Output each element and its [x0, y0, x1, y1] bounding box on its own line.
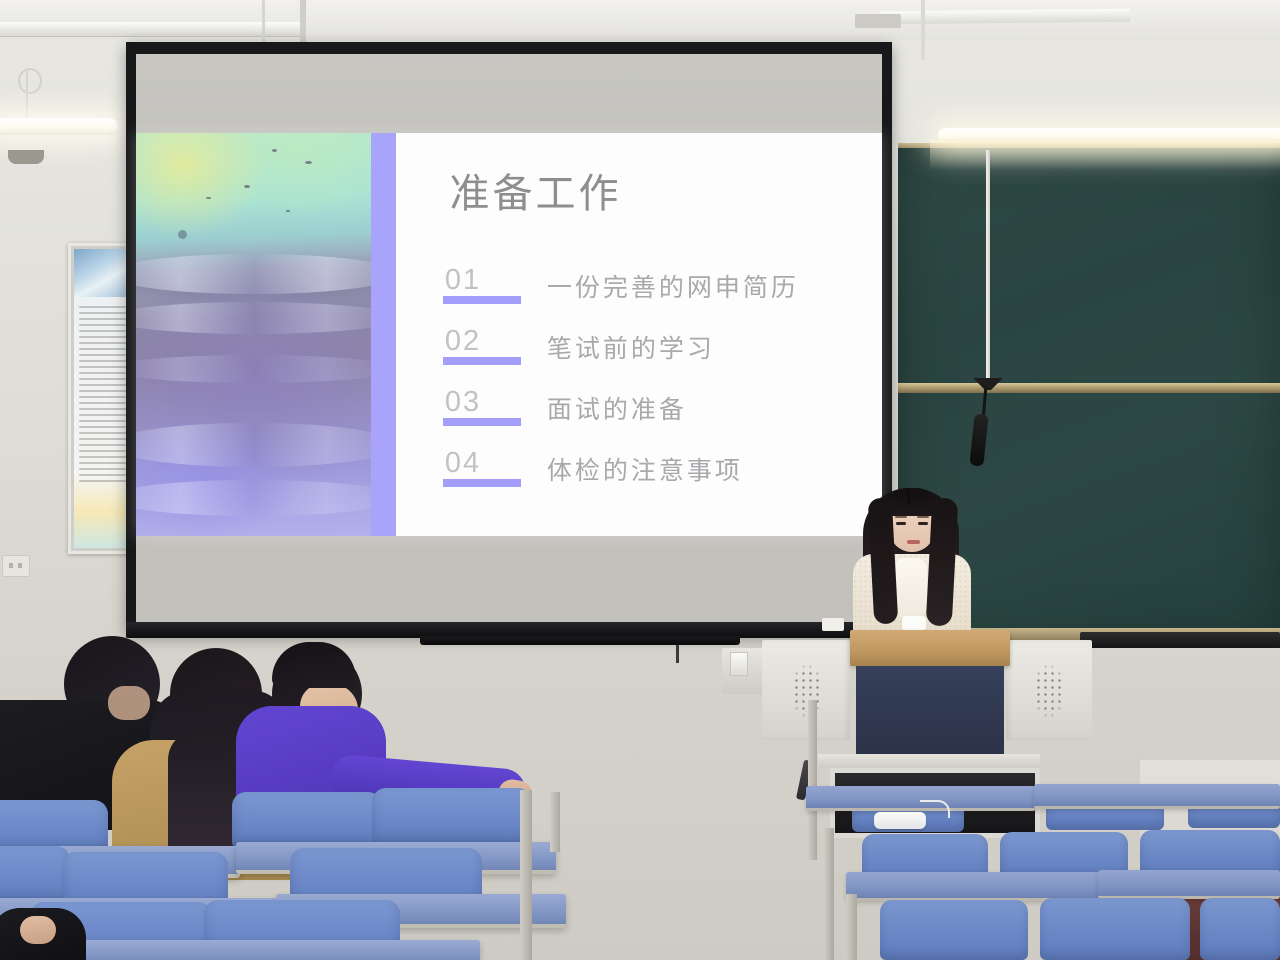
desk[interactable] — [1034, 784, 1280, 809]
student-front-row-hand — [20, 916, 56, 944]
lamp-bracket-left — [8, 150, 44, 164]
speaker-grille-icon — [786, 656, 828, 726]
power-bank-on-desk[interactable] — [874, 812, 926, 829]
chalkboard-rail — [898, 383, 1280, 393]
slide-accent-bar — [371, 133, 396, 536]
desk[interactable] — [846, 872, 1102, 901]
agenda-item: 01 一份完善的网申简历 — [445, 266, 873, 326]
agenda-item-underline — [443, 479, 521, 487]
presenter-mouth — [907, 540, 920, 544]
seat[interactable] — [372, 788, 532, 846]
desk-leg — [824, 828, 834, 960]
agenda-item-label: 笔试前的学习 — [547, 329, 715, 365]
seat[interactable] — [1200, 898, 1280, 960]
presenter-eye-left — [896, 522, 906, 525]
speaker-grille-icon — [1028, 656, 1070, 726]
projector-box — [855, 14, 901, 28]
agenda-item: 02 笔试前的学习 — [445, 327, 873, 387]
podium-speaker-right — [1006, 640, 1092, 740]
desk-leg — [550, 792, 560, 852]
slide-title: 准备工作 — [450, 161, 622, 219]
agenda-item-underline — [443, 296, 521, 304]
presenter-inner-top — [893, 558, 927, 618]
phone-on-podium[interactable] — [902, 616, 926, 630]
wall-box-slot — [730, 652, 748, 676]
presentation-slide: 准备工作 01 一份完善的网申简历 02 笔试前的学习 03 面试的准备 — [136, 133, 882, 536]
agenda-item-number: 04 — [445, 449, 517, 478]
ceiling-rail-left — [0, 22, 300, 37]
podium-base — [818, 754, 1040, 768]
projector-mount — [300, 0, 306, 46]
seat[interactable] — [0, 846, 70, 904]
seat[interactable] — [1040, 898, 1190, 960]
light-glow-right — [930, 140, 1280, 170]
poster-header-image — [74, 249, 134, 297]
agenda-item: 04 体检的注意事项 — [445, 449, 873, 509]
podium-speaker-left — [762, 640, 850, 740]
agenda-item-label: 一份完善的网申简历 — [547, 268, 799, 304]
agenda-item-number: 01 — [445, 266, 517, 295]
classroom-scene: 准备工作 01 一份完善的网申简历 02 笔试前的学习 03 面试的准备 — [0, 0, 1280, 960]
lamp-hook-icon — [18, 68, 42, 94]
chalkboard-tray — [1080, 632, 1280, 648]
agenda-item-number: 03 — [445, 388, 517, 417]
ceiling-light-left — [0, 118, 118, 135]
desk-leg — [808, 700, 817, 860]
remote-on-podium[interactable] — [822, 618, 844, 631]
screen-weight-bar-lower — [420, 636, 740, 645]
agenda-item-underline — [443, 357, 521, 365]
desk-leg — [520, 790, 532, 960]
marbled-fluid-art-image — [136, 133, 371, 536]
desk-leg — [846, 894, 857, 960]
slide-agenda-list: 01 一份完善的网申简历 02 笔试前的学习 03 面试的准备 04 — [445, 266, 873, 510]
agenda-item: 03 面试的准备 — [445, 388, 873, 448]
desk[interactable] — [1098, 870, 1280, 899]
projector-wire — [921, 0, 925, 60]
slide-body: 准备工作 01 一份完善的网申简历 02 笔试前的学习 03 面试的准备 — [419, 133, 882, 536]
power-socket[interactable] — [2, 555, 30, 577]
agenda-item-underline — [443, 418, 521, 426]
seat[interactable] — [232, 792, 382, 848]
presenter-eyebrow-left — [895, 516, 907, 518]
agenda-item-number: 02 — [445, 327, 517, 356]
ceiling-rail-right — [880, 9, 1130, 25]
screen-pull-cord — [676, 645, 679, 663]
agenda-item-label: 体检的注意事项 — [547, 451, 743, 487]
presenter-eyebrow-right — [917, 516, 929, 518]
lamp-wire-left — [26, 70, 28, 120]
agenda-item-label: 面试的准备 — [547, 390, 687, 426]
charger-cable — [920, 800, 950, 818]
seat[interactable] — [880, 900, 1028, 960]
poster-inner — [74, 249, 134, 548]
presenter-eye-right — [918, 522, 928, 525]
microphone-pole — [986, 150, 990, 382]
poster-text-lines — [79, 306, 130, 503]
podium-front-panel — [856, 666, 1004, 754]
student-left-face-edge — [108, 686, 150, 720]
podium-desktop — [850, 630, 1010, 666]
